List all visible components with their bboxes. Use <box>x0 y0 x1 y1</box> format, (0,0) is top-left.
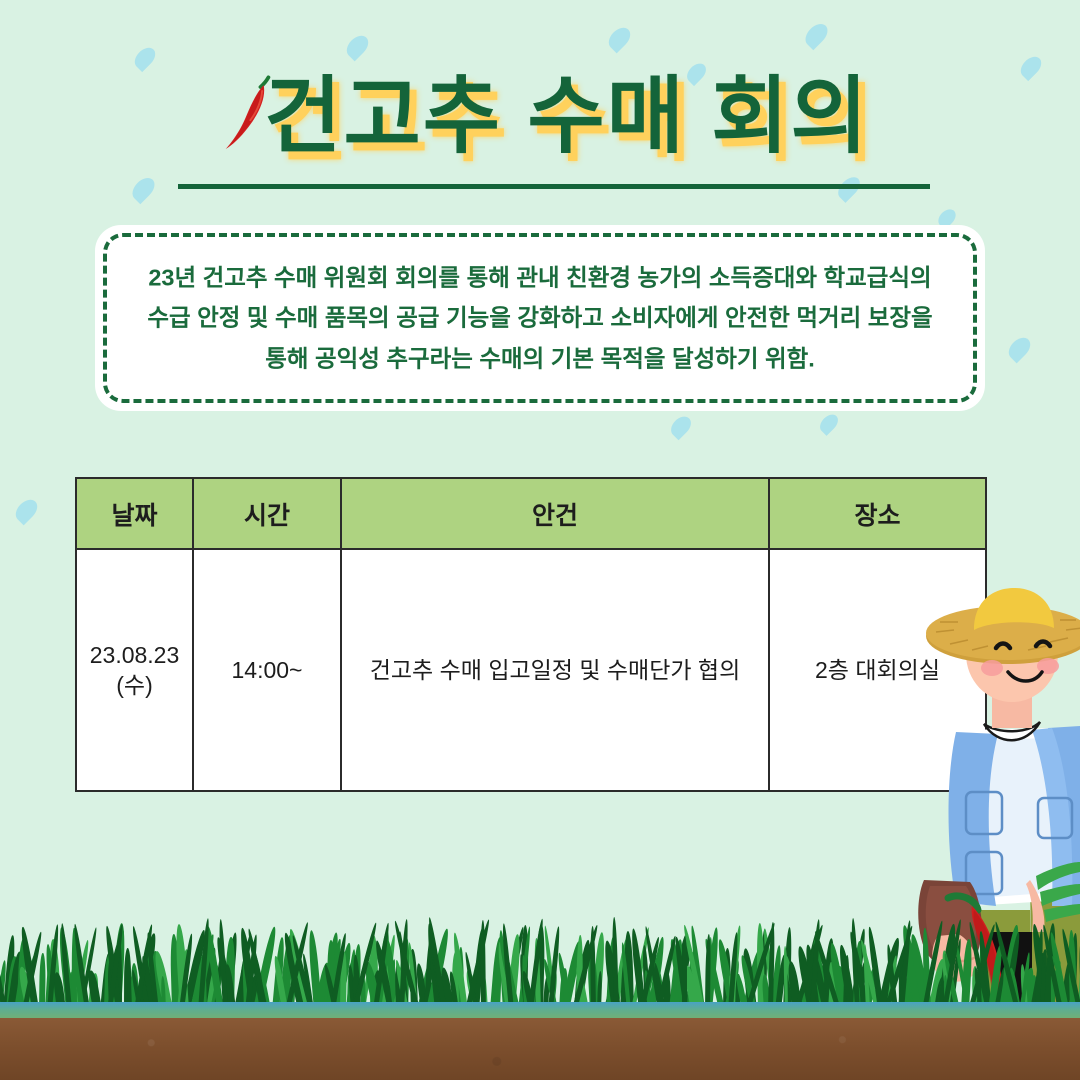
water-droplet-icon <box>667 413 695 441</box>
cell-date: 23.08.23 (수) <box>76 549 193 791</box>
water-droplet-icon <box>131 44 159 72</box>
water-droplet-icon <box>343 32 373 62</box>
water-droplet-icon <box>801 20 831 50</box>
description-text: 23년 건고추 수매 위원회 회의를 통해 관내 친환경 농가의 소득증대와 학… <box>127 257 953 378</box>
water-droplet-icon <box>12 496 42 526</box>
table-header-row: 날짜 시간 안건 장소 <box>76 478 986 549</box>
page-title: 건고추 수매 회의 <box>210 72 870 160</box>
column-header-place: 장소 <box>769 478 986 549</box>
table-row: 23.08.23 (수) 14:00~ 건고추 수매 입고일정 및 수매단가 협… <box>76 549 986 791</box>
soil-strip <box>0 1018 1080 1080</box>
water-droplet-icon <box>605 24 635 54</box>
column-header-agenda: 안건 <box>341 478 769 549</box>
cell-agenda: 건고추 수매 입고일정 및 수매단가 협의 <box>341 549 769 791</box>
description-box: 23년 건고추 수매 위원회 회의를 통해 관내 친환경 농가의 소득증대와 학… <box>95 225 985 411</box>
column-header-date: 날짜 <box>76 478 193 549</box>
column-header-time: 시간 <box>193 478 341 549</box>
poster-canvas: 건고추 수매 회의 23년 건고추 수매 위원회 회의를 통해 관내 친환경 농… <box>0 0 1080 1080</box>
water-droplet-icon <box>1005 334 1035 364</box>
title-block: 건고추 수매 회의 <box>0 72 1080 160</box>
water-droplet-icon <box>817 411 842 436</box>
ground-area <box>0 890 1080 1080</box>
grass-row <box>0 918 1080 1010</box>
schedule-table: 날짜 시간 안건 장소 23.08.23 (수) 14:00~ 건고추 수매 입… <box>75 477 987 792</box>
cell-time: 14:00~ <box>193 549 341 791</box>
water-droplet-icon <box>128 174 158 204</box>
title-underline-rule <box>178 184 930 189</box>
